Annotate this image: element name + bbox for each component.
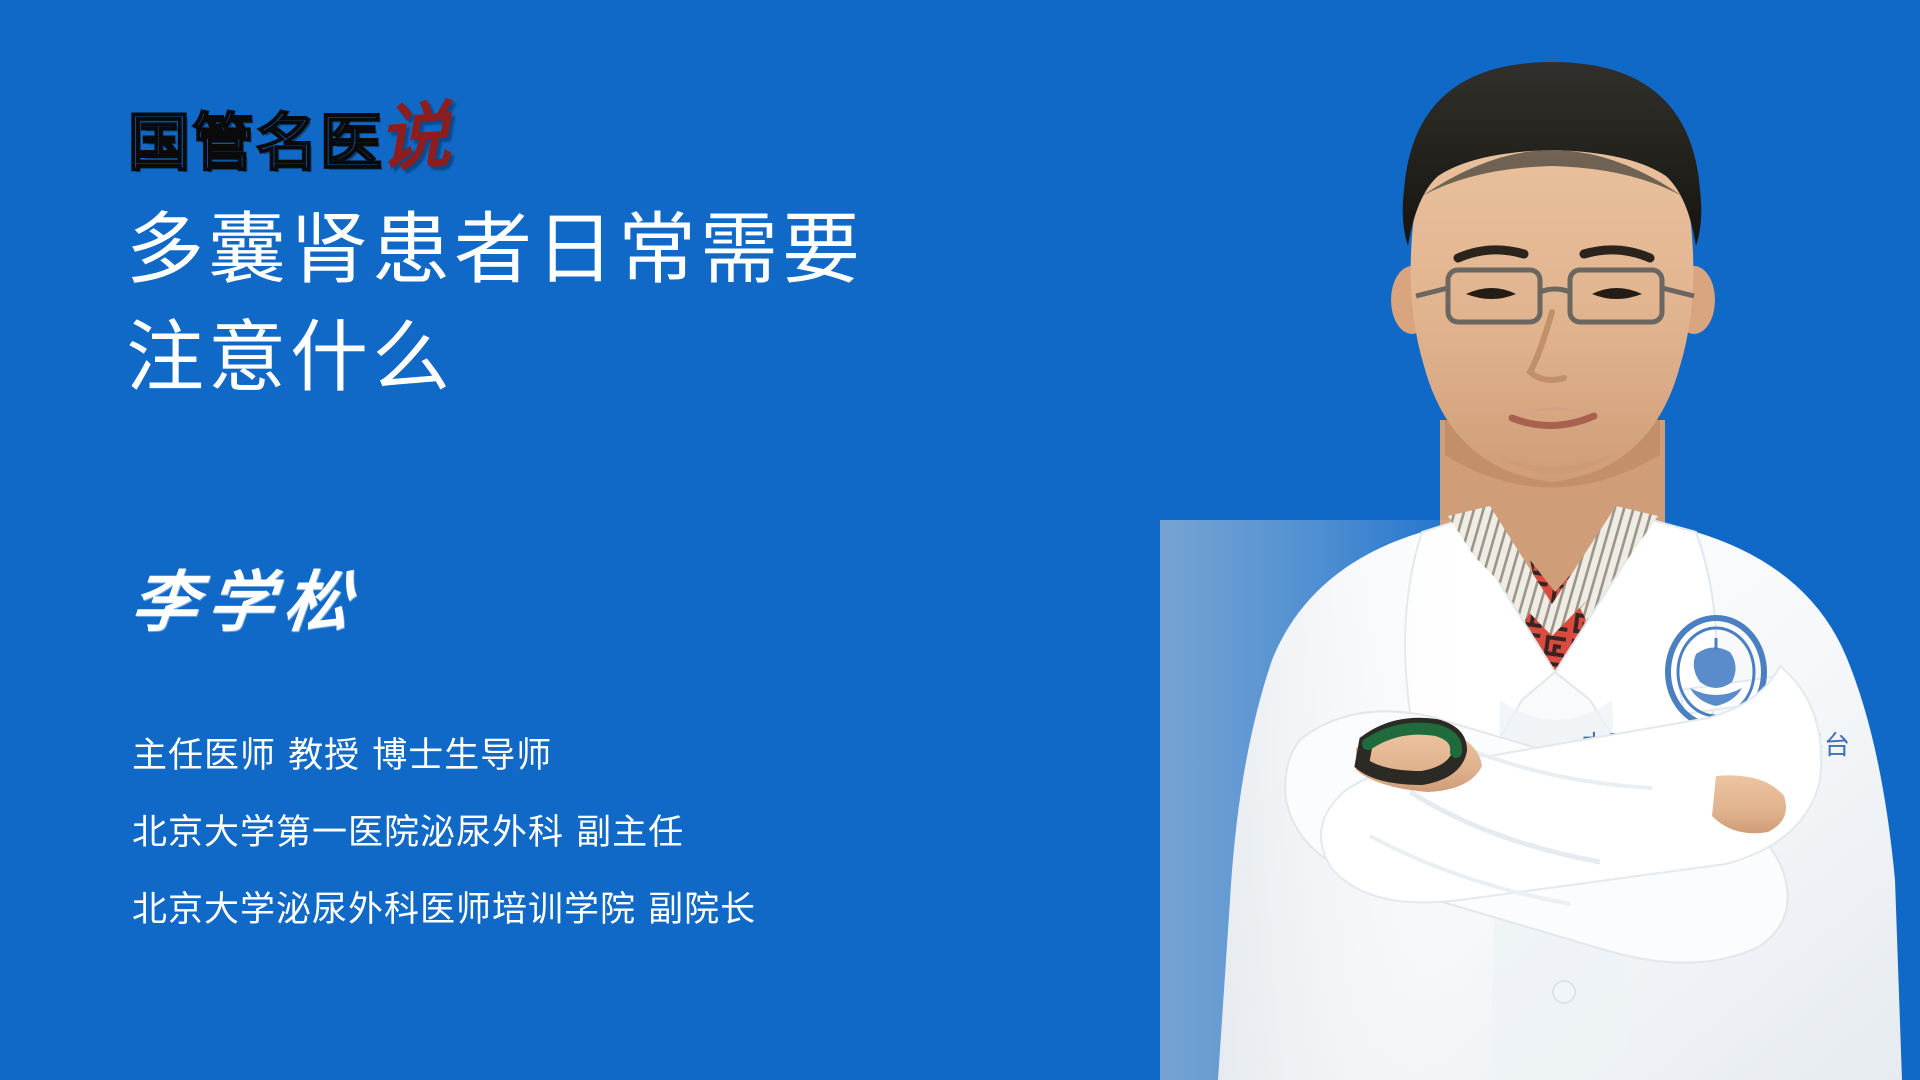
page-title-line-1: 多囊肾患者日常需要	[126, 196, 1126, 304]
page-title: 多囊肾患者日常需要 注意什么	[126, 196, 1126, 412]
page-title-line-2: 注意什么	[126, 304, 1126, 412]
doctor-name: 李学松	[128, 562, 364, 642]
doctor-credentials: 主任医师 教授 博士生导师 北京大学第一医院泌尿外科 副主任 北京大学泌尿外科医…	[132, 718, 1112, 949]
credential-line-2: 北京大学第一医院泌尿外科 副主任	[132, 795, 1112, 872]
brand-logo: 国管名医 说	[128, 88, 450, 174]
brand-logo-main-text: 国管名医	[128, 112, 384, 174]
slide-canvas: 国管名医 说 多囊肾患者日常需要 注意什么 李学松 主任医师 教授 博士生导师 …	[0, 0, 1920, 1080]
credential-line-3: 北京大学泌尿外科医师培训学院 副院长	[132, 872, 1112, 949]
brand-logo-accent-text: 说	[376, 104, 452, 171]
doctor-portrait-image: 中国医药信息查询平台	[1160, 0, 1920, 1080]
credential-line-1: 主任医师 教授 博士生导师	[132, 718, 1112, 795]
portrait-illustration: 中国医药信息查询平台	[1160, 0, 1920, 1080]
